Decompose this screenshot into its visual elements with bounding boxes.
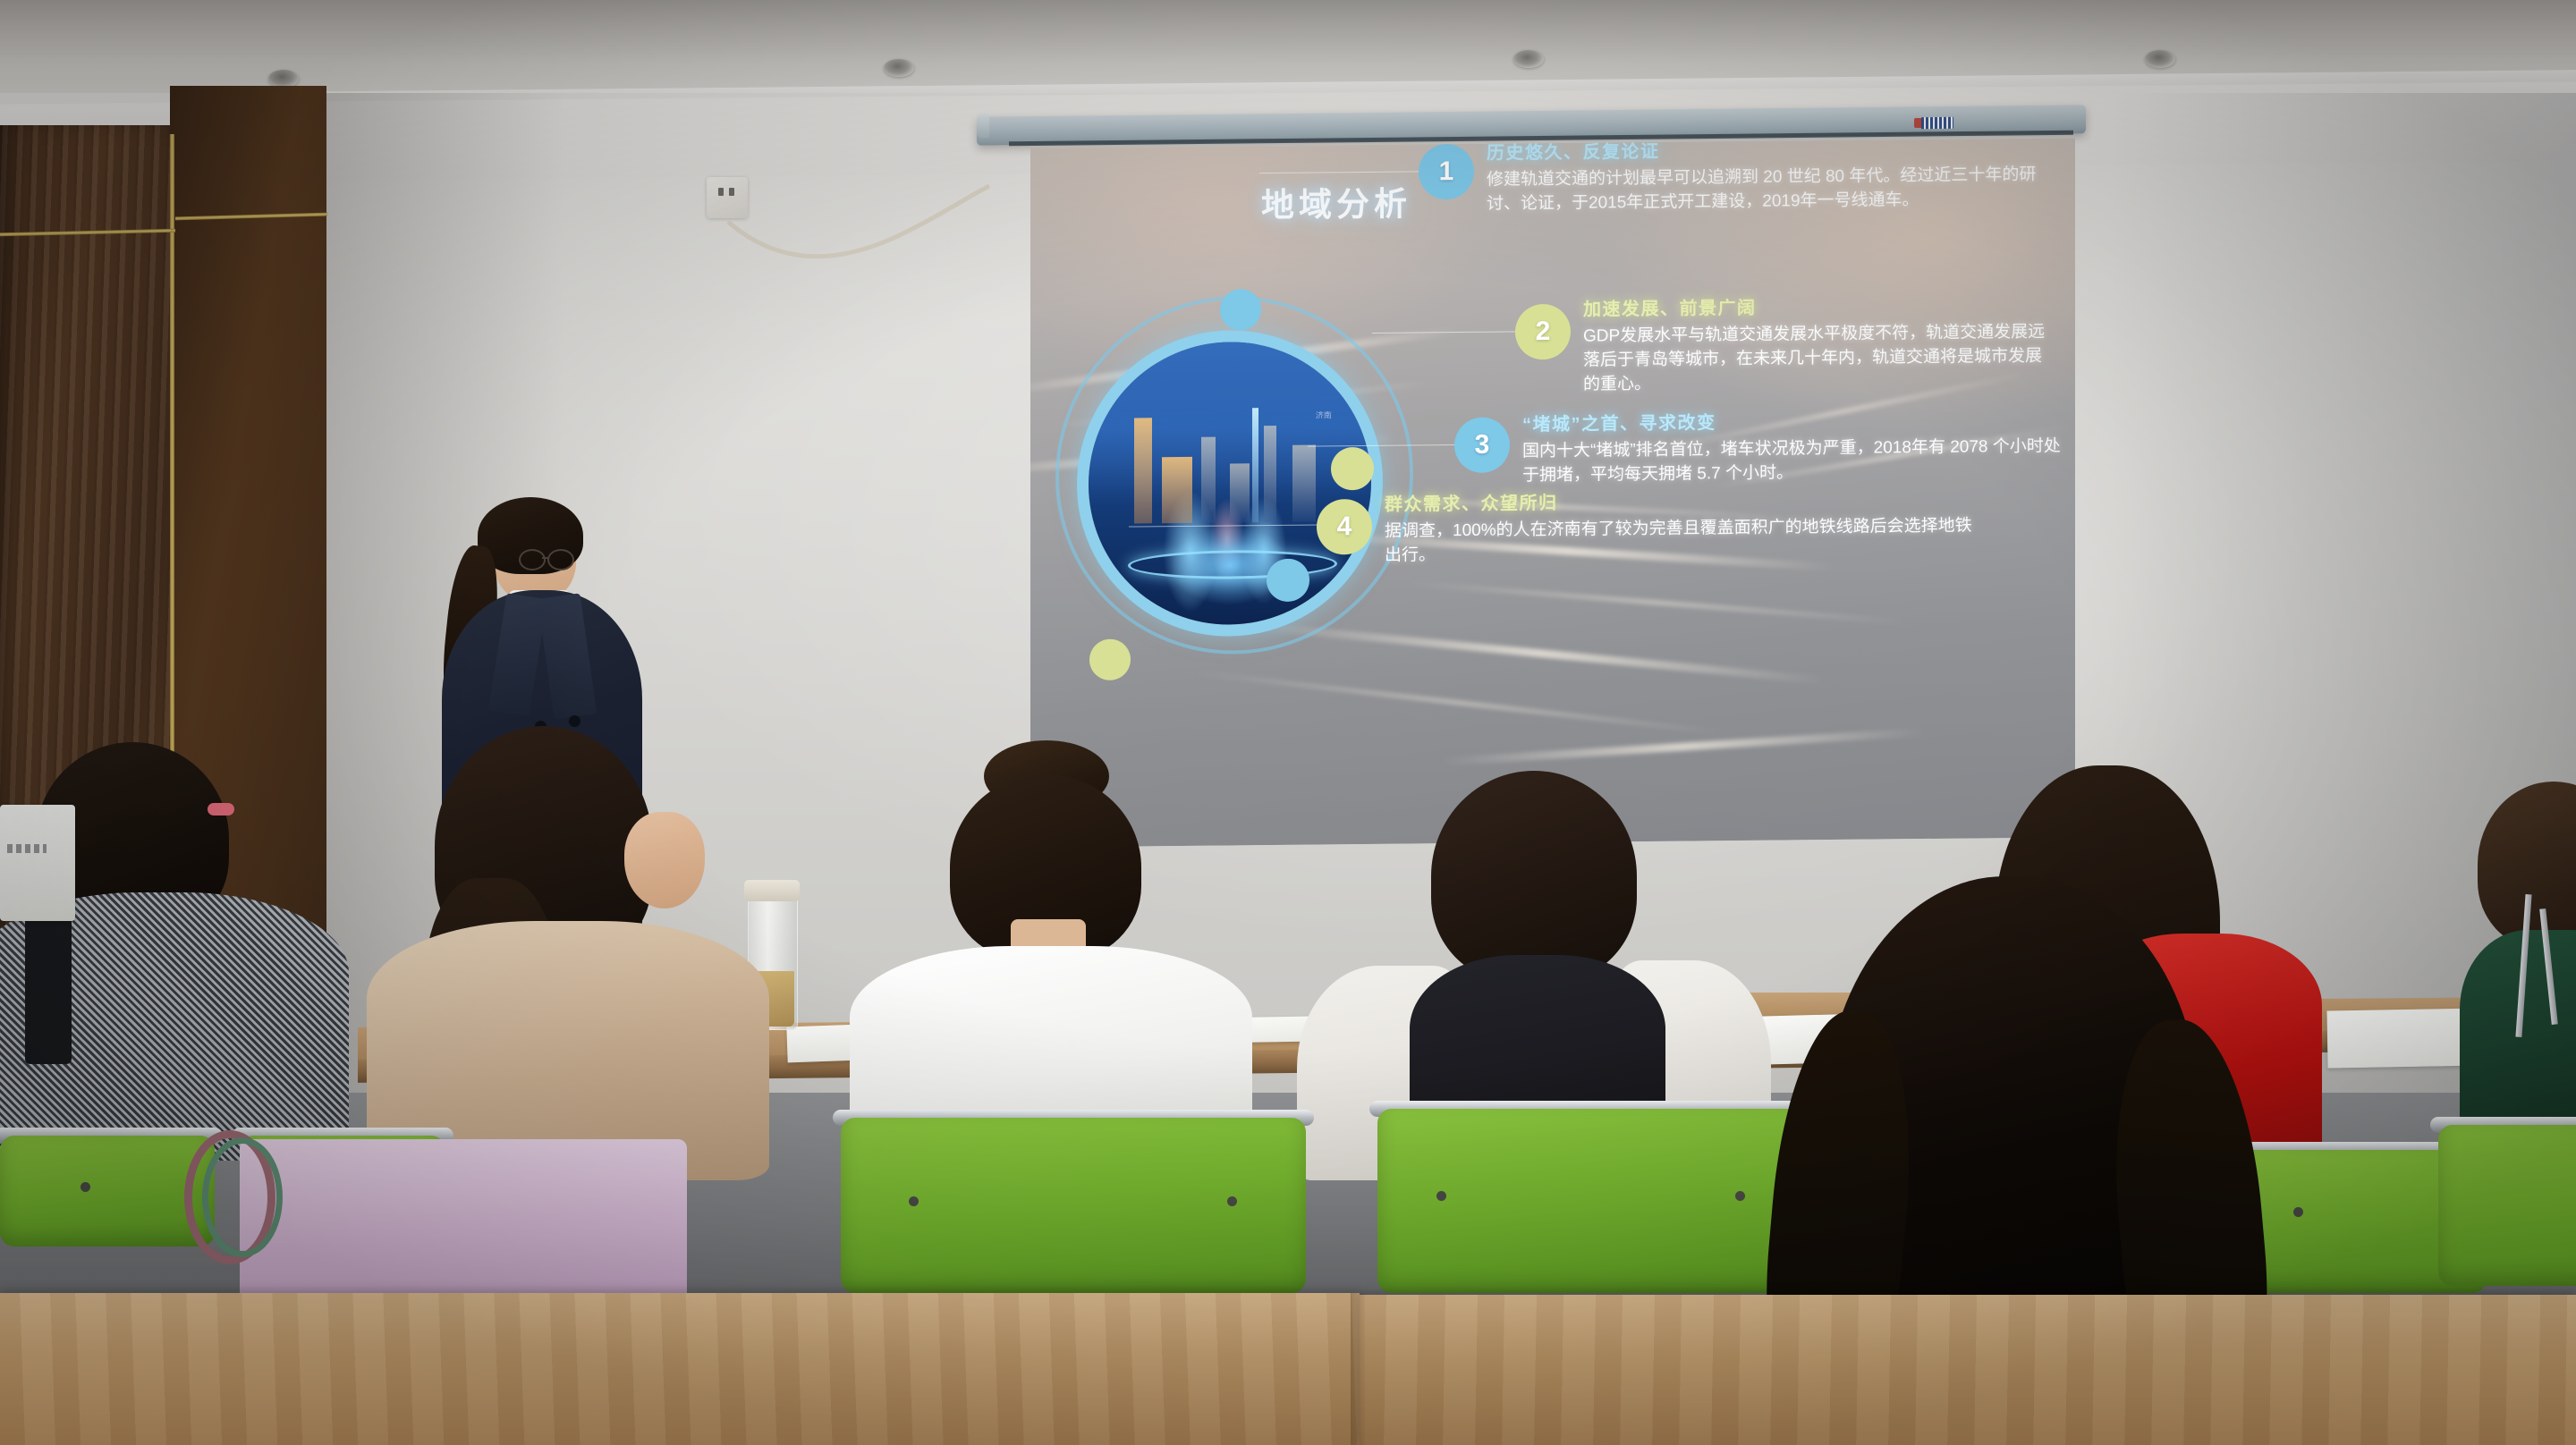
foreground-desk-right bbox=[1360, 1295, 2576, 1445]
downlight-2 bbox=[884, 59, 914, 77]
bag-on-chair[interactable] bbox=[240, 1139, 687, 1297]
bullet-number-3: 3 bbox=[1454, 417, 1510, 473]
attendee-checkered bbox=[0, 742, 358, 1153]
building bbox=[1230, 464, 1250, 523]
bullet-number-label: 4 bbox=[1337, 511, 1352, 542]
orbit-dot-3 bbox=[1267, 559, 1309, 602]
bullet-number-label: 1 bbox=[1439, 156, 1454, 187]
building bbox=[1162, 457, 1192, 523]
bullet-number-label: 2 bbox=[1536, 317, 1551, 347]
bullet-item-3: “堵城”之首、寻求改变 国内十大“堵城”排名首位，堵车状况极为严重，2018年有… bbox=[1522, 404, 2066, 488]
orbit-dot-1 bbox=[1220, 289, 1261, 330]
tv-tower bbox=[1252, 408, 1258, 522]
bullet-heading: 历史悠久、反复论证 bbox=[1487, 138, 2064, 164]
downlight-4 bbox=[2145, 50, 2175, 68]
equipment-box bbox=[0, 805, 75, 921]
roller-end-cap bbox=[977, 114, 989, 138]
orbit-graphic: 济南 bbox=[1030, 279, 1406, 667]
city-night-photo: 济南 bbox=[1089, 341, 1371, 626]
foreground-desk-left bbox=[0, 1293, 1360, 1445]
chair-rivet bbox=[1436, 1191, 1446, 1201]
building bbox=[1292, 445, 1316, 522]
downlight-1 bbox=[268, 70, 299, 88]
bullet-number-4: 4 bbox=[1317, 499, 1372, 555]
bullet-body: 修建轨道交通的计划最早可以追溯到 20 世纪 80 年代。经过近三十年的研讨、论… bbox=[1487, 164, 2064, 217]
building bbox=[1264, 426, 1276, 522]
attendee-hairclip-icon bbox=[208, 803, 234, 815]
chair[interactable] bbox=[0, 1136, 215, 1246]
chair[interactable] bbox=[2438, 1125, 2576, 1286]
classroom-presentation-photo: 地域分析 济南 bbox=[0, 0, 2576, 1445]
attendee-ribbon bbox=[25, 912, 72, 1064]
bullet-body: GDP发展水平与轨道交通发展水平极度不符，轨道交通发展远落后于青岛等城市，在未来… bbox=[1583, 321, 2057, 398]
bullet-item-4: 群众需求、众望所归 据调查，100%的人在济南有了较为完善且覆盖面积广的地铁线路… bbox=[1385, 484, 1979, 568]
orbit-dot-2 bbox=[1331, 447, 1374, 490]
attendee-hair bbox=[1431, 771, 1637, 982]
chair[interactable] bbox=[841, 1118, 1306, 1293]
bullet-heading: 加速发展、前景广阔 bbox=[1583, 291, 2057, 321]
attendee-face bbox=[624, 812, 705, 908]
bullet-heading: “堵城”之首、寻求改变 bbox=[1522, 404, 2066, 435]
building bbox=[1134, 418, 1152, 524]
attendee-white-tee bbox=[832, 740, 1261, 1161]
downlight-3 bbox=[1513, 50, 1544, 68]
bullet-number-label: 3 bbox=[1475, 430, 1490, 461]
bullet-number-1: 1 bbox=[1419, 144, 1474, 200]
orbit-dot-4 bbox=[1089, 639, 1131, 680]
equipment-box-label bbox=[7, 844, 47, 853]
foreground-desk-seam bbox=[1351, 1293, 1365, 1445]
bullet-body: 据调查，100%的人在济南有了较为完善且覆盖面积广的地铁线路后会选择地铁出行。 bbox=[1385, 514, 1979, 568]
chair-rivet bbox=[80, 1182, 90, 1192]
glasses-icon bbox=[519, 549, 574, 567]
bullet-item-1: 历史悠久、反复论证 修建轨道交通的计划最早可以追溯到 20 世纪 80 年代。经… bbox=[1487, 138, 2064, 216]
roller-brand-logo-icon bbox=[1921, 117, 1953, 129]
chair-pad bbox=[0, 1136, 215, 1246]
chair-pad bbox=[2438, 1125, 2576, 1286]
bullet-body: 国内十大“堵城”排名首位，堵车状况极为严重，2018年有 2078 个小时处于拥… bbox=[1522, 435, 2066, 488]
chair-rivet bbox=[909, 1196, 919, 1206]
slide-title: 地域分析 bbox=[1261, 177, 1411, 227]
photo-caption: 济南 bbox=[1316, 409, 1332, 420]
bullet-item-2: 加速发展、前景广阔 GDP发展水平与轨道交通发展水平极度不符，轨道交通发展远落后… bbox=[1583, 291, 2057, 398]
chair-rivet bbox=[1227, 1196, 1237, 1206]
bullet-heading: 群众需求、众望所归 bbox=[1385, 484, 1979, 515]
bullet-number-2: 2 bbox=[1515, 304, 1571, 360]
bag-strap bbox=[202, 1137, 283, 1257]
building bbox=[1201, 437, 1216, 523]
power-cable bbox=[721, 184, 1043, 265]
attendee-beige bbox=[349, 726, 778, 1173]
